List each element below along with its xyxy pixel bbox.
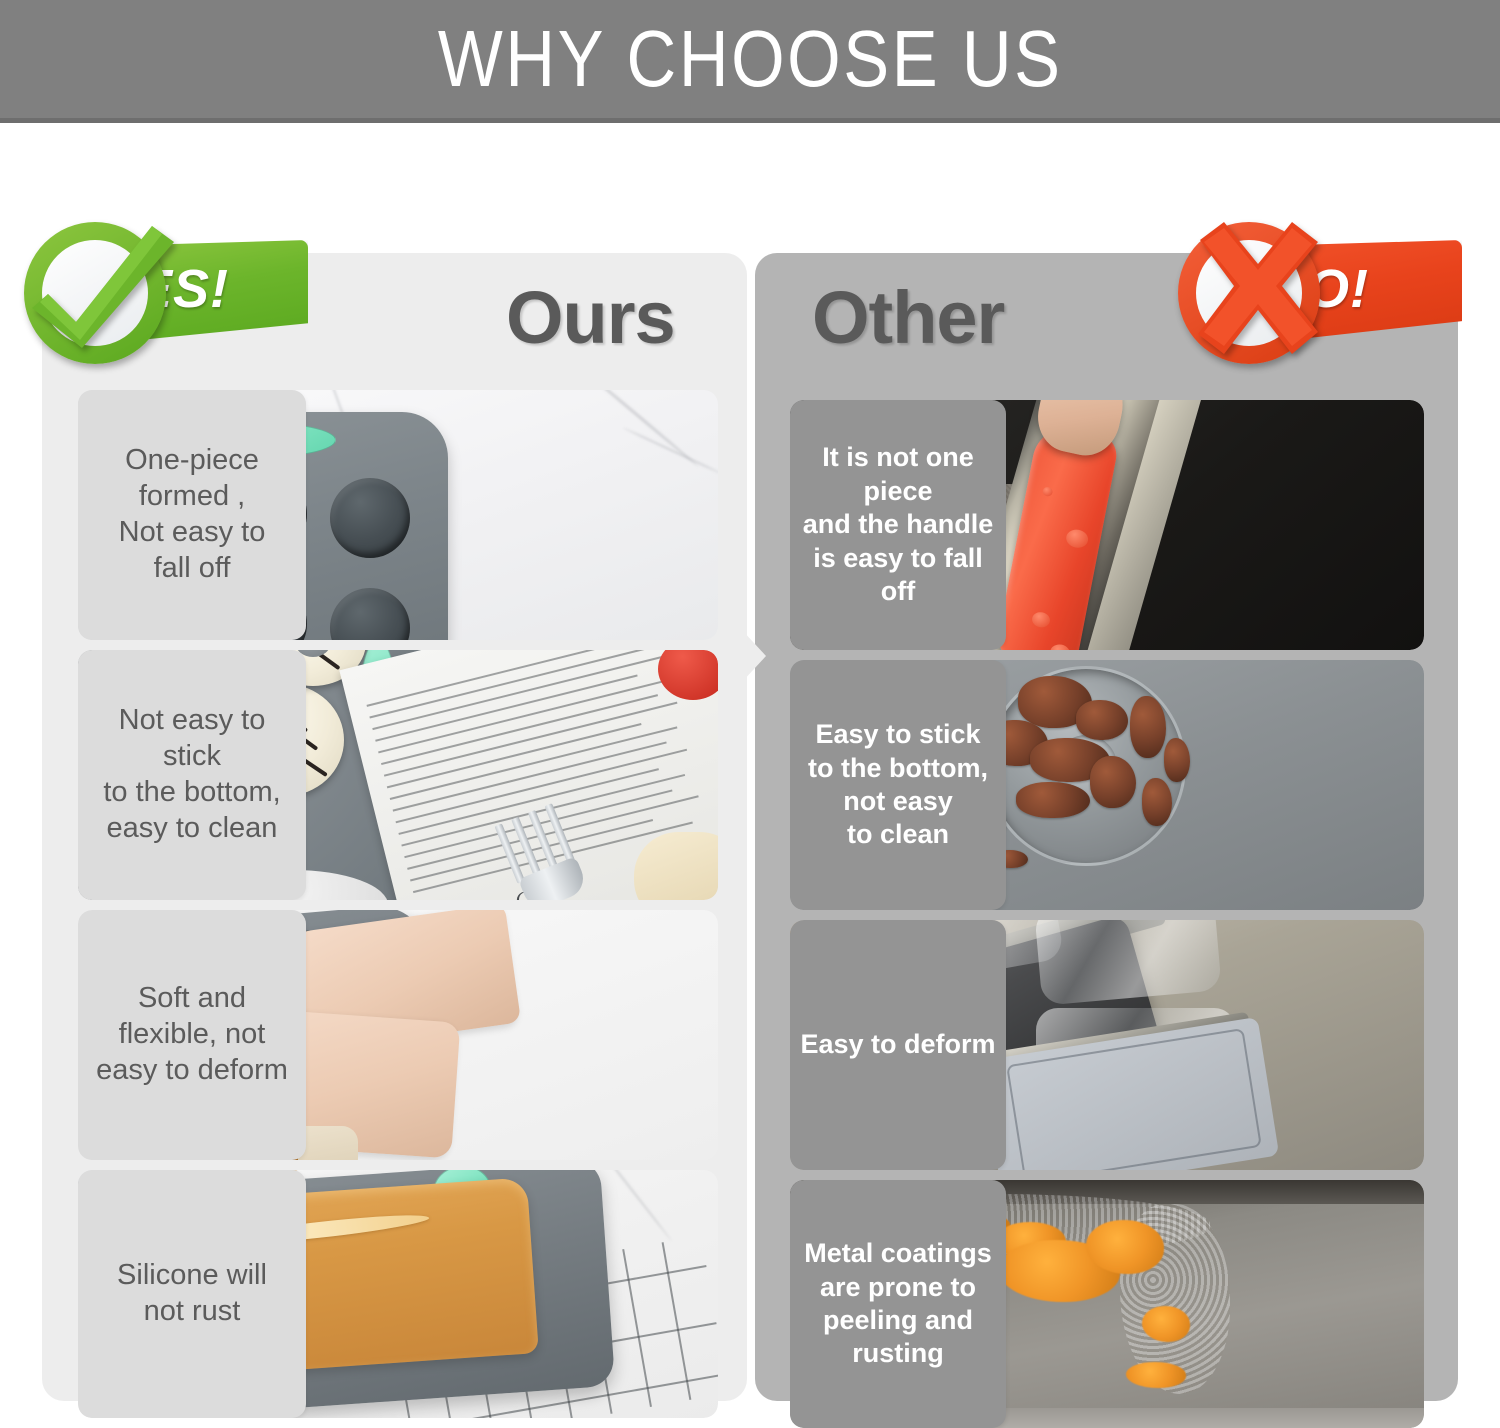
other-row-2: Easy to stick to the bottom, not easy to… — [790, 660, 1424, 910]
ours-caption-4-text: Silicone will not rust — [117, 1258, 267, 1330]
other-caption-1-text: It is not one piece and the handle is ea… — [798, 441, 998, 608]
rust-patch — [1126, 1362, 1186, 1388]
ours-caption-2-text: Not easy to stick to the bottom, easy to… — [88, 703, 296, 847]
rust-patch — [1086, 1220, 1164, 1274]
ours-row-4: Silicone will not rust — [78, 1170, 718, 1418]
panel-connector-arrow — [742, 630, 766, 682]
ours-caption-3: Soft and flexible, not easy to deform — [78, 910, 306, 1160]
cross-icon — [1178, 216, 1338, 366]
page-header: WHY CHOOSE US — [0, 0, 1500, 118]
ours-caption-1-text: One-piece formed , Not easy to fall off — [119, 443, 266, 587]
other-caption-4: Metal coatings are prone to peeling and … — [790, 1180, 1006, 1428]
ours-caption-2: Not easy to stick to the bottom, easy to… — [78, 650, 306, 900]
rust-patch — [1142, 1306, 1190, 1342]
no-badge: NO! — [1168, 212, 1468, 372]
page-title: WHY CHOOSE US — [438, 19, 1063, 99]
other-row-4: Metal coatings are prone to peeling and … — [790, 1180, 1424, 1428]
other-row-3: Easy to deform — [790, 920, 1424, 1170]
ours-heading: Ours — [506, 281, 675, 355]
header-divider — [0, 118, 1500, 123]
check-icon — [24, 216, 184, 366]
ours-row-3: Soft and flexible, not easy to deform — [78, 910, 718, 1160]
other-caption-3-text: Easy to deform — [800, 1028, 995, 1061]
ours-row-2: inal G g Co Not easy to stick to the bot… — [78, 650, 718, 900]
ours-caption-4: Silicone will not rust — [78, 1170, 306, 1418]
ours-caption-3-text: Soft and flexible, not easy to deform — [96, 981, 288, 1089]
other-caption-1: It is not one piece and the handle is ea… — [790, 400, 1006, 650]
ours-caption-1: One-piece formed , Not easy to fall off — [78, 390, 306, 640]
other-caption-4-text: Metal coatings are prone to peeling and … — [804, 1237, 992, 1371]
other-caption-2-text: Easy to stick to the bottom, not easy to… — [808, 718, 988, 852]
ours-row-1: One-piece formed , Not easy to fall off — [78, 390, 718, 640]
other-caption-3: Easy to deform — [790, 920, 1006, 1170]
other-row-1: It is not one piece and the handle is ea… — [790, 400, 1424, 650]
other-heading: Other — [812, 281, 1004, 355]
yes-badge: YES! — [14, 212, 314, 372]
other-caption-2: Easy to stick to the bottom, not easy to… — [790, 660, 1006, 910]
